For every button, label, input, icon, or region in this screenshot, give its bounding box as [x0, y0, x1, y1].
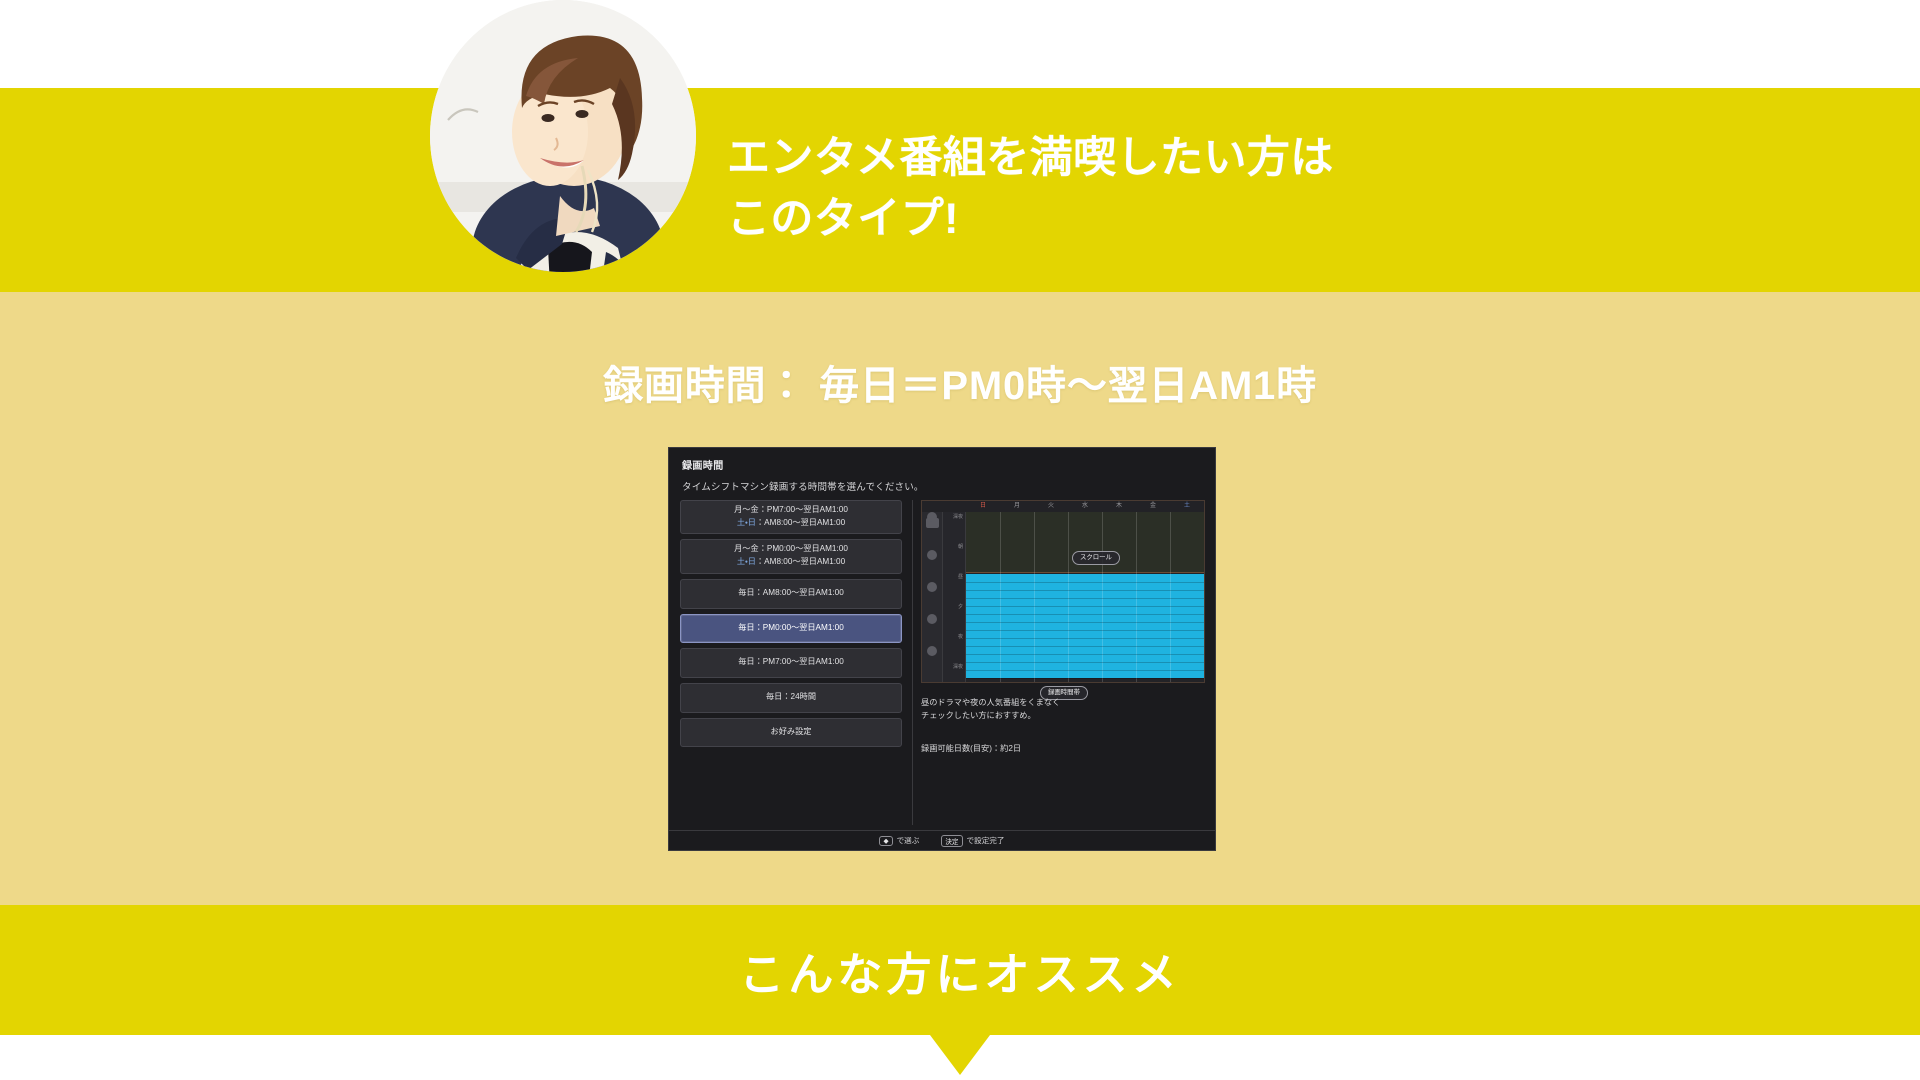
hour-label: 深夜 [943, 514, 966, 521]
option-time-value: ：PM7:00～翌日AM1:00 [759, 505, 848, 514]
avatar-photo-illustration [430, 0, 696, 272]
option-time-value: ：AM8:00～翌日AM1:00 [756, 557, 845, 566]
channel-logo-icon [927, 582, 937, 592]
list-item[interactable]: 毎日：AM8:00～翌日AM1:00 [680, 579, 902, 609]
list-item[interactable]: 月～金：PM0:00～翌日AM1:00 土・日：AM8:00～翌日AM1:00 [680, 539, 902, 573]
channel-logo-icon [927, 550, 937, 560]
option-time-value: ：PM0:00～翌日AM1:00 [759, 544, 848, 553]
day-header-cell: 水 [1068, 501, 1102, 512]
recording-time-subtitle: 録画時間： 毎日＝PM0時～翌日AM1時 [0, 353, 1920, 411]
option-day-label: 毎日 [766, 692, 782, 701]
option-day-label: 月～金 [734, 544, 759, 553]
option-description: 昼のドラマや夜の人気番組をくまなく チェックしたい方におすすめ。 [921, 696, 1205, 722]
day-header-cell: 金 [1136, 501, 1170, 512]
day-header-cell: 火 [1034, 501, 1068, 512]
schedule-plot-area [966, 512, 1204, 682]
channel-icon-column [922, 512, 943, 682]
option-day-label: 毎日 [738, 657, 754, 666]
enter-key-icon: 決定 [941, 835, 962, 847]
recording-time-option-list: 月～金：PM7:00～翌日AM1:00 土・日：AM8:00～翌日AM1:00 … [680, 500, 902, 752]
hour-label-column: 深夜 朝 昼 夕 夜 深夜 [943, 512, 966, 682]
option-time-value: ：24時間 [782, 692, 816, 701]
available-days-value: 録画可能日数(目安)：約2日 [921, 742, 1205, 754]
option-day-label: お好み設定 [771, 727, 812, 736]
header-title-line-1: エンタメ番組を満喫したい方は [727, 128, 1627, 189]
channel-logo-icon [927, 646, 937, 656]
hour-label: 夜 [943, 634, 966, 641]
option-day-label: 毎日 [738, 623, 754, 632]
hint-select-label: で選ぶ [897, 835, 920, 846]
option-description-line-2: チェックしたい方におすすめ。 [921, 709, 1205, 722]
channel-logo-icon [927, 512, 937, 522]
header-title: エンタメ番組を満喫したい方は このタイプ! [727, 128, 1627, 250]
hint-confirm-label: で設定完了 [967, 835, 1005, 846]
day-header-cell: 木 [1102, 501, 1136, 512]
list-item-custom-setting[interactable]: お好み設定 [680, 718, 902, 748]
option-time-value: ：AM8:00～翌日AM1:00 [755, 588, 844, 597]
dpad-icon: ◆ [879, 836, 892, 846]
tv-panel-title: 録画時間 [682, 457, 724, 472]
option-day-label: 毎日 [738, 588, 754, 597]
tv-screenshot: 録画時間 タイムシフトマシン録画する時間帯を選んでください。 月～金：PM7:0… [668, 447, 1216, 851]
option-description-line-1: 昼のドラマや夜の人気番組をくまなく [921, 696, 1205, 709]
list-item[interactable]: 毎日：24時間 [680, 683, 902, 713]
list-item-selected[interactable]: 毎日：PM0:00～翌日AM1:00 [680, 614, 902, 644]
hour-label: 深夜 [943, 664, 966, 671]
hint-select: ◆ で選ぶ [879, 835, 919, 846]
avatar [430, 0, 696, 272]
list-item[interactable]: 月～金：PM7:00～翌日AM1:00 土・日：AM8:00～翌日AM1:00 [680, 500, 902, 534]
header-title-line-2: このタイプ! [727, 189, 1627, 250]
hint-confirm: 決定 で設定完了 [941, 835, 1004, 847]
option-day-label: 月～金 [734, 505, 759, 514]
promo-page: エンタメ番組を満喫したい方は このタイプ! 録画時間： 毎日＝PM0時～翌日AM… [0, 0, 1920, 1080]
option-time-value: ：AM8:00～翌日AM1:00 [756, 518, 845, 527]
schedule-preview-pane: 日 月 火 水 木 金 土 [912, 500, 1206, 825]
option-time-value: ：PM0:00～翌日AM1:00 [755, 623, 844, 632]
option-day-label: 土・日 [737, 518, 756, 527]
day-header-cell: 月 [1000, 501, 1034, 512]
list-item[interactable]: 毎日：PM7:00～翌日AM1:00 [680, 648, 902, 678]
option-time-value: ：PM7:00～翌日AM1:00 [755, 657, 844, 666]
footer-pointer-triangle [930, 1035, 990, 1075]
scroll-hint-badge: スクロール [1072, 551, 1120, 565]
tv-panel-instruction: タイムシフトマシン録画する時間帯を選んでください。 [682, 479, 924, 493]
tv-footer-hint-bar: ◆ で選ぶ 決定 で設定完了 [669, 830, 1215, 850]
hour-label: 朝 [943, 544, 966, 551]
recommendation-heading: こんな方にオススメ [0, 938, 1920, 1003]
channel-logo-icon [927, 614, 937, 624]
day-header-cell: 土 [1170, 501, 1204, 512]
hour-label: 昼 [943, 574, 966, 581]
day-header-cell: 日 [966, 501, 1000, 512]
option-day-label: 土・日 [737, 557, 756, 566]
schedule-grid: 日 月 火 水 木 金 土 [921, 500, 1205, 683]
hour-label: 夕 [943, 604, 966, 611]
schedule-day-header-row: 日 月 火 水 木 金 土 [966, 501, 1204, 512]
